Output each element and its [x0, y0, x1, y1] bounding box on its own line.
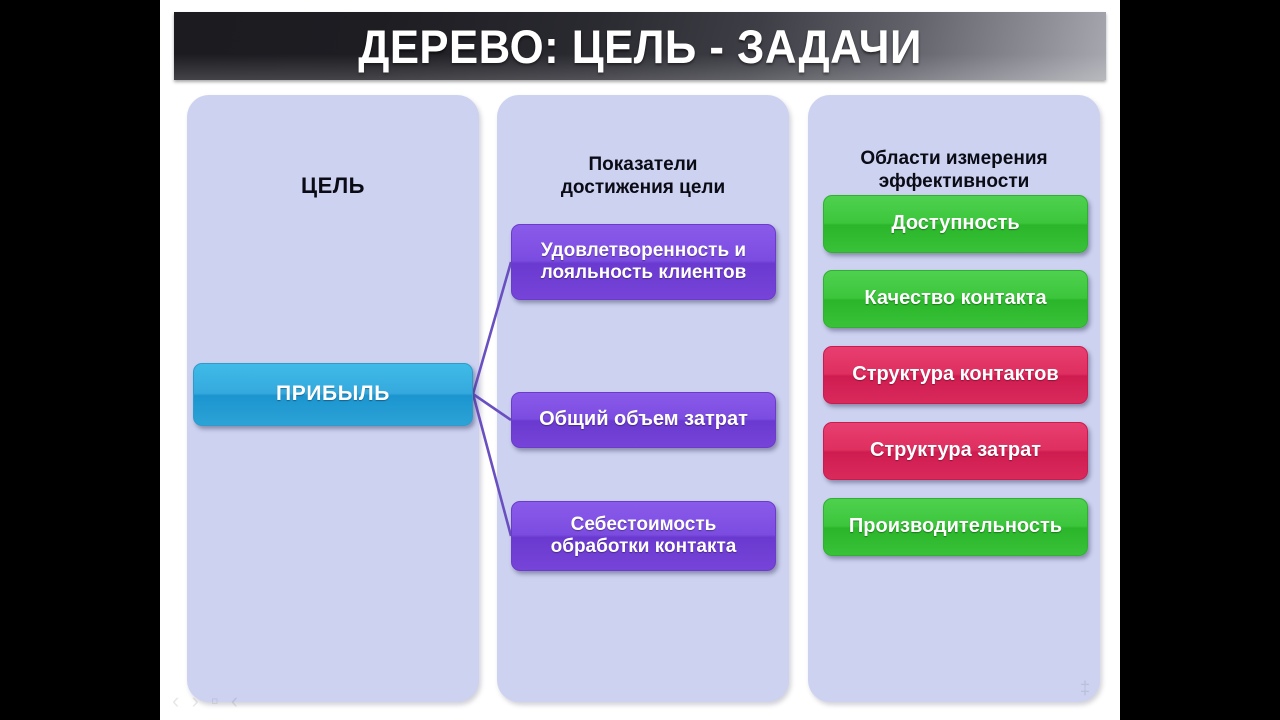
column-goal-heading: ЦЕЛЬ — [187, 173, 479, 200]
column-metrics-heading-line-1: Показатели — [497, 153, 789, 176]
watermark-right: ‡ — [1080, 678, 1093, 699]
page-title: ДЕРЕВО: ЦЕЛЬ - ЗАДАЧИ — [358, 23, 922, 70]
node-contact-structure[interactable]: Структура контактов — [823, 346, 1088, 404]
node-satisfaction[interactable]: Удовлетворенность и лояльность клиентов — [511, 224, 776, 300]
slide-stage: ДЕРЕВО: ЦЕЛЬ - ЗАДАЧИ ЦЕЛЬ Показатели до… — [0, 0, 1280, 720]
node-productivity[interactable]: Производительность — [823, 498, 1088, 556]
node-contact-quality[interactable]: Качество контакта — [823, 270, 1088, 328]
node-contact-unit-cost[interactable]: Себестоимость обработки контакта — [511, 501, 776, 571]
node-cost-structure[interactable]: Структура затрат — [823, 422, 1088, 480]
slide-title-banner: ДЕРЕВО: ЦЕЛЬ - ЗАДАЧИ — [174, 12, 1106, 80]
slide-canvas: ДЕРЕВО: ЦЕЛЬ - ЗАДАЧИ ЦЕЛЬ Показатели до… — [160, 0, 1120, 720]
node-satisfaction-line-2: лояльность клиентов — [541, 262, 747, 284]
node-contact-unit-cost-line-2: обработки контакта — [551, 536, 737, 558]
node-availability[interactable]: Доступность — [823, 195, 1088, 253]
column-metrics-heading-line-2: достижения цели — [497, 176, 789, 199]
column-tasks-heading-line-1: Области измерения — [808, 147, 1100, 170]
column-tasks-heading-line-2: эффективности — [808, 170, 1100, 193]
node-satisfaction-line-1: Удовлетворенность и — [541, 240, 747, 262]
column-metrics-heading: Показатели достижения цели — [497, 153, 789, 199]
watermark-left: ‹ › ▫ ‹ — [172, 688, 241, 714]
node-total-cost[interactable]: Общий объем затрат — [511, 392, 776, 448]
node-contact-unit-cost-line-1: Себестоимость — [551, 514, 737, 536]
node-profit[interactable]: ПРИБЫЛЬ — [193, 363, 473, 426]
